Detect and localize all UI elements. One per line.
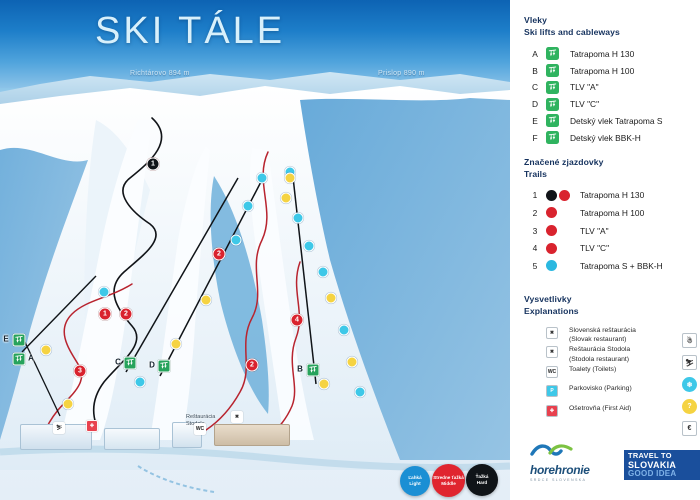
lift-legend-row[interactable]: A Tatrapoma H 130: [524, 45, 700, 62]
wc-icon: WC: [546, 366, 558, 378]
difficulty-label-en: Middle: [441, 481, 456, 487]
lift-legend-row[interactable]: F Detský vlek BBK-H: [524, 129, 700, 146]
sledding-icon[interactable]: ⛷: [682, 355, 697, 370]
trail-legend-row[interactable]: 5 Tatrapoma S + BBK-H: [524, 257, 700, 275]
snow-park-icon[interactable]: ☃: [682, 333, 697, 348]
trail-number-marker[interactable]: 1: [147, 158, 160, 171]
village-building: [104, 428, 160, 450]
lift-pylon-marker: [319, 379, 330, 390]
lift-legend-row[interactable]: D TLV "C": [524, 96, 700, 113]
explanation-label-sk: Ošetrovňa (First Aid): [569, 405, 631, 412]
map-panel[interactable]: SKI TÁLE Richtárovo 894 m Prislop 890 m …: [0, 0, 510, 500]
info-icon[interactable]: ?: [682, 399, 697, 414]
trail-code: 4: [524, 243, 546, 253]
page-title: SKI TÁLE: [95, 10, 285, 53]
explanation-label: Ošetrovňa (First Aid): [569, 404, 631, 413]
trail-code: 1: [524, 190, 546, 200]
trail-number-marker[interactable]: 4: [291, 314, 304, 327]
trail-difficulty-dots: [546, 243, 576, 254]
map-caption: Reštaurácia: [186, 414, 215, 421]
trail-difficulty-dots: [546, 225, 576, 236]
travel-to-slovakia-logo[interactable]: TRAVEL TO SLOVAKIA GOOD IDEA: [624, 450, 700, 480]
explanation-label-en: (Slovak restaurant): [569, 336, 626, 343]
logo-area: horehronie SRDCE SLOVENSKA TRAVEL TO SLO…: [524, 444, 700, 486]
map-lift-badge[interactable]: [124, 357, 137, 370]
restaurant-icon: ✖: [546, 346, 558, 358]
difficulty-badge: Ľahká Light: [400, 466, 430, 496]
lift-icon: [546, 98, 559, 111]
explanation-row[interactable]: ✖ Slovenská reštaurácia(Slovak restauran…: [524, 326, 700, 346]
trails-title-en: Trails: [524, 168, 700, 180]
lift-code: C: [524, 82, 546, 92]
trail-difficulty-dots: [546, 207, 576, 218]
trail-code: 3: [524, 226, 546, 236]
lift-pylon-marker: [63, 399, 74, 410]
explanation-row[interactable]: ✖ Reštaurácia Stodola(Stodola restaurant…: [524, 345, 700, 365]
lift-name: Tatrapoma H 130: [570, 49, 634, 59]
trail-legend-row[interactable]: 2 Tatrapoma H 100: [524, 204, 700, 222]
difficulty-badge: Stredne ťažká Middle: [432, 464, 465, 497]
ski-resort-trail-map: SKI TÁLE Richtárovo 894 m Prislop 890 m …: [0, 0, 700, 500]
horehronie-mark: [530, 442, 574, 458]
explanations-list: ✖ Slovenská reštaurácia(Slovak restauran…: [524, 326, 700, 424]
peak-label: Richtárovo 894 m: [130, 70, 190, 77]
explanation-label: Slovenská reštaurácia(Slovak restaurant): [569, 326, 636, 344]
trail-dot: [559, 190, 570, 201]
lift-pylon-marker: [326, 293, 337, 304]
travel-line-3: GOOD IDEA: [628, 470, 700, 479]
horehronie-wordmark: horehronie: [530, 463, 590, 477]
lift-pylon-marker: [347, 357, 358, 368]
explanation-label-sk: Slovenská reštaurácia: [569, 327, 636, 334]
lift-pylon-marker: [243, 201, 254, 212]
explanations-section-heading: Vysvetlivky Explanations: [524, 293, 700, 317]
explanation-label-en: (Stodola restaurant): [569, 356, 629, 363]
lift-pylon-marker: [304, 241, 315, 252]
trails-title-sk: Značené zjazdovky: [524, 157, 604, 167]
lifts-title-en: Ski lifts and cableways: [524, 26, 700, 38]
explanation-label-sk: Reštaurácia Stodola: [569, 346, 630, 353]
trail-dot: [546, 225, 557, 236]
explanation-label: Toalety (Toilets): [569, 365, 616, 374]
difficulty-label-en: Light: [409, 481, 420, 487]
peak-label: Prislop 890 m: [378, 70, 425, 77]
trail-code: 5: [524, 261, 546, 271]
trails-list: 1 Tatrapoma H 130 2 Tatrapoma H 100 3 TL…: [524, 187, 700, 275]
lift-name: Tatrapoma H 100: [570, 66, 634, 76]
lift-pylon-marker: [285, 173, 296, 184]
lift-icon: [546, 131, 559, 144]
first-aid-icon: ✚: [546, 405, 558, 417]
map-lift-badge[interactable]: [158, 360, 171, 373]
lift-pylon-marker: [171, 339, 182, 350]
trail-dot: [546, 207, 557, 218]
lift-pylon-marker: [99, 287, 110, 298]
explanations-extra-icon-column[interactable]: ☃⛷❄?€: [682, 333, 700, 443]
trail-code: 2: [524, 208, 546, 218]
lift-code: F: [524, 133, 546, 143]
lift-pylon-marker: [281, 193, 292, 204]
explanations-title-sk: Vysvetlivky: [524, 294, 572, 304]
lift-name: Detský vlek BBK-H: [570, 133, 641, 143]
trail-difficulty-dots: [546, 260, 576, 271]
map-lift-badge[interactable]: [13, 334, 26, 347]
lift-pylon-marker: [41, 345, 52, 356]
cashdesk-icon[interactable]: €: [682, 421, 697, 436]
lift-pylon-marker: [355, 387, 366, 398]
horehronie-logo[interactable]: horehronie SRDCE SLOVENSKA: [530, 442, 590, 482]
lift-code: E: [524, 116, 546, 126]
map-lift-letter: C: [115, 358, 121, 367]
trail-number-marker[interactable]: 2: [246, 359, 259, 372]
map-lift-badge[interactable]: [307, 364, 320, 377]
trail-number-marker[interactable]: 2: [213, 248, 226, 261]
lift-code: A: [524, 49, 546, 59]
lift-name: TLV "A": [570, 82, 599, 92]
first-aid-icon[interactable]: ✚: [86, 420, 98, 432]
trail-dot: [546, 243, 557, 254]
trail-name: Tatrapoma H 130: [580, 190, 644, 200]
trail-name: Tatrapoma H 100: [580, 208, 644, 218]
lifts-list: A Tatrapoma H 130 B Tatrapoma H 100 C TL…: [524, 45, 700, 146]
trail-name: TLV "C": [580, 243, 609, 253]
lift-icon: [546, 81, 559, 94]
lift-name: Detský vlek Tatrapoma S: [570, 116, 662, 126]
lift-pylon-marker: [318, 267, 329, 278]
explanation-label-sk: Parkovisko (Parking): [569, 385, 632, 392]
trail-dot: [546, 260, 557, 271]
parking-icon: P: [546, 385, 558, 397]
lifts-title-sk: Vleky: [524, 15, 547, 25]
lift-legend-row[interactable]: C TLV "A": [524, 79, 700, 96]
travel-line-1: TRAVEL TO: [628, 452, 700, 460]
lift-pylon-marker: [135, 377, 146, 388]
legend-panel: Vleky Ski lifts and cableways A Tatrapom…: [510, 0, 700, 500]
map-lift-letter: A: [28, 354, 34, 363]
difficulty-badge: Ťažká Hard: [466, 464, 498, 496]
explanations-title-en: Explanations: [524, 305, 700, 317]
lifts-section-heading: Vleky Ski lifts and cableways: [524, 14, 700, 38]
lift-code: B: [524, 66, 546, 76]
lift-icon: [546, 47, 559, 60]
lift-pylon-marker: [257, 173, 268, 184]
difficulty-label-en: Hard: [477, 480, 487, 486]
map-lift-badge[interactable]: [13, 353, 26, 366]
lift-pylon-marker: [293, 213, 304, 224]
restaurant-icon[interactable]: ✖: [231, 411, 243, 423]
lift-icon: [546, 64, 559, 77]
lift-pylon-marker: [231, 235, 242, 246]
explanation-row[interactable]: ✚ Ošetrovňa (First Aid): [524, 404, 700, 424]
explanation-row[interactable]: P Parkovisko (Parking): [524, 384, 700, 404]
trail-legend-row[interactable]: 4 TLV "C": [524, 239, 700, 257]
lift-pylon-marker: [339, 325, 350, 336]
map-lift-letter: B: [297, 365, 303, 374]
trail-legend-row[interactable]: 3 TLV "A": [524, 222, 700, 240]
trails-section-heading: Značené zjazdovky Trails: [524, 156, 700, 180]
trail-number-marker[interactable]: 2: [120, 308, 133, 321]
lift-icon: [546, 114, 559, 127]
lift-pylon-marker: [201, 295, 212, 306]
trail-number-marker[interactable]: 3: [74, 365, 87, 378]
horehronie-tagline: SRDCE SLOVENSKA: [530, 478, 590, 482]
map-lift-letter: D: [149, 361, 155, 370]
lift-legend-row[interactable]: B Tatrapoma H 100: [524, 62, 700, 79]
trail-name: TLV "A": [580, 226, 609, 236]
lift-legend-row[interactable]: E Detský vlek Tatrapoma S: [524, 113, 700, 130]
trail-legend-row[interactable]: 1 Tatrapoma H 130: [524, 187, 700, 205]
stodola-building: [214, 424, 290, 446]
trail-dot: [546, 190, 557, 201]
skier-icon[interactable]: ⛷: [53, 422, 65, 434]
explanation-row[interactable]: WC Toalety (Toilets): [524, 365, 700, 385]
trail-number-marker[interactable]: 1: [99, 308, 112, 321]
trail-name: Tatrapoma S + BBK-H: [580, 261, 663, 271]
explanation-label-sk: Toalety (Toilets): [569, 366, 616, 373]
explanation-label: Reštaurácia Stodola(Stodola restaurant): [569, 345, 630, 363]
restaurant-icon: ✖: [546, 327, 558, 339]
snowmaking-icon[interactable]: ❄: [682, 377, 697, 392]
trail-difficulty-dots: [546, 190, 576, 201]
lift-name: TLV "C": [570, 99, 599, 109]
lift-code: D: [524, 99, 546, 109]
map-lift-letter: E: [3, 335, 8, 344]
explanation-label: Parkovisko (Parking): [569, 384, 632, 393]
wc-icon[interactable]: WC: [194, 423, 206, 435]
